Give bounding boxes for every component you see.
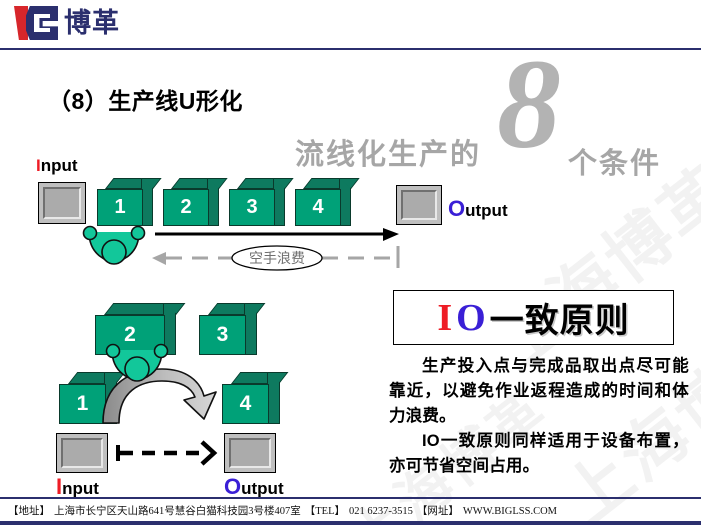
- top-station-2: 2: [163, 178, 223, 226]
- top-output-initial: O: [448, 196, 465, 221]
- footer-address-tag: 【地址】: [8, 506, 50, 517]
- slide-canvas: 上海博革 上海博革 上海博革 8 流线化生产的 个条件 博革 （8）生产线U形化…: [0, 0, 701, 525]
- bottom-output-rest: utput: [241, 479, 283, 498]
- bottom-output-initial: O: [224, 474, 241, 499]
- watermark-left-text: 流线化生产的: [295, 131, 481, 173]
- principle-letter-i: I: [437, 296, 452, 340]
- brand-name: 博革: [64, 6, 120, 40]
- body-paragraph-1: 生产投入点与完成品取出点尽可能靠近，以避免作业返程造成的时间和体力浪费。: [389, 354, 689, 429]
- top-station-3: 3: [229, 178, 289, 226]
- top-station-4: 4: [295, 178, 355, 226]
- top-input-port: [38, 182, 86, 224]
- footer-divider: [0, 497, 701, 499]
- worker-icon: [106, 344, 168, 386]
- arrow-right-icon: [155, 228, 401, 242]
- footer-tel-tag: 【TEL】: [305, 506, 345, 517]
- empty-hand-waste-label: 空手浪费: [232, 248, 322, 268]
- watermark-right-text: 个条件: [568, 140, 661, 182]
- page-title: （8）生产线U形化: [48, 82, 243, 116]
- worker-icon: [83, 226, 145, 268]
- header-divider: [0, 48, 701, 50]
- bottom-station-3-label: 3: [199, 315, 246, 355]
- top-station-1: 1: [97, 178, 157, 226]
- top-station-4-label: 4: [295, 189, 341, 226]
- footer-bottom-bar: [0, 521, 701, 525]
- top-output-rest: utput: [465, 201, 507, 220]
- watermark-big-number: 8: [497, 40, 561, 168]
- principle-callout-box: I O 一致原则: [393, 290, 674, 345]
- bg-monogram-icon: [14, 6, 58, 40]
- top-input-rest: nput: [41, 156, 78, 175]
- top-station-2-label: 2: [163, 189, 209, 226]
- principle-text: 一致原则: [490, 293, 630, 342]
- brand-logo: 博革: [14, 6, 120, 40]
- bottom-station-3: 3: [199, 303, 261, 355]
- body-paragraph-2: IO一致原则同样适用于设备布置，亦可节省空间占用。: [389, 429, 689, 479]
- double-headed-dashed-arrow-icon: [116, 440, 222, 466]
- footer-contact: 【地址】上海市长宁区天山路641号慧谷白猫科技园3号楼407室【TEL】021 …: [8, 503, 561, 518]
- bottom-input-rest: nput: [62, 479, 99, 498]
- top-station-1-label: 1: [97, 189, 143, 226]
- footer-web-tag: 【网址】: [417, 506, 459, 517]
- footer-web: WWW.BIGLSS.COM: [463, 506, 557, 517]
- footer-tel: 021 6237-3515: [349, 506, 413, 517]
- bottom-input-port: [56, 433, 108, 473]
- principle-letter-o: O: [456, 296, 486, 340]
- bottom-output-port: [224, 433, 276, 473]
- top-output-port: [396, 185, 442, 225]
- footer-address: 上海市长宁区天山路641号慧谷白猫科技园3号楼407室: [54, 506, 301, 517]
- top-station-3-label: 3: [229, 189, 275, 226]
- top-output-label: Output: [448, 196, 508, 222]
- top-input-label: Input: [36, 156, 78, 176]
- body-text: 生产投入点与完成品取出点尽可能靠近，以避免作业返程造成的时间和体力浪费。 IO一…: [389, 354, 689, 479]
- bottom-station-1-label: 1: [59, 384, 106, 424]
